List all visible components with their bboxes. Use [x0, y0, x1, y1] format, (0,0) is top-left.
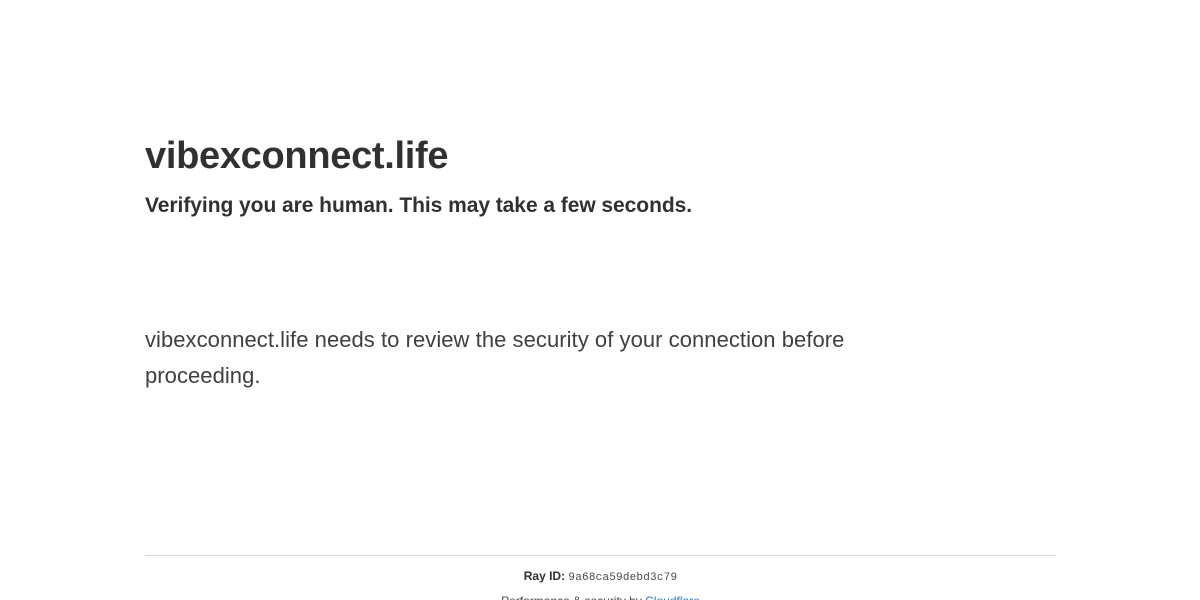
ray-id-label: Ray ID:: [524, 569, 565, 583]
security-review-description: vibexconnect.life needs to review the se…: [145, 322, 945, 394]
challenge-widget-placeholder: [145, 240, 445, 305]
ray-id-value: 9a68ca59debd3c79: [568, 572, 677, 584]
attribution-row: Performance & security by Cloudflare: [145, 593, 1056, 600]
footer: Ray ID: 9a68ca59debd3c79 Performance & s…: [145, 556, 1056, 600]
attribution-prefix: Performance & security by: [501, 594, 642, 600]
page-title: vibexconnect.life: [145, 133, 448, 179]
challenge-page: vibexconnect.life Verifying you are huma…: [0, 0, 1200, 600]
turnstile-challenge-widget[interactable]: [145, 240, 445, 305]
verification-status-message: Verifying you are human. This may take a…: [145, 192, 692, 220]
ray-id-row: Ray ID: 9a68ca59debd3c79: [145, 568, 1056, 586]
cloudflare-link[interactable]: Cloudflare: [645, 594, 700, 600]
